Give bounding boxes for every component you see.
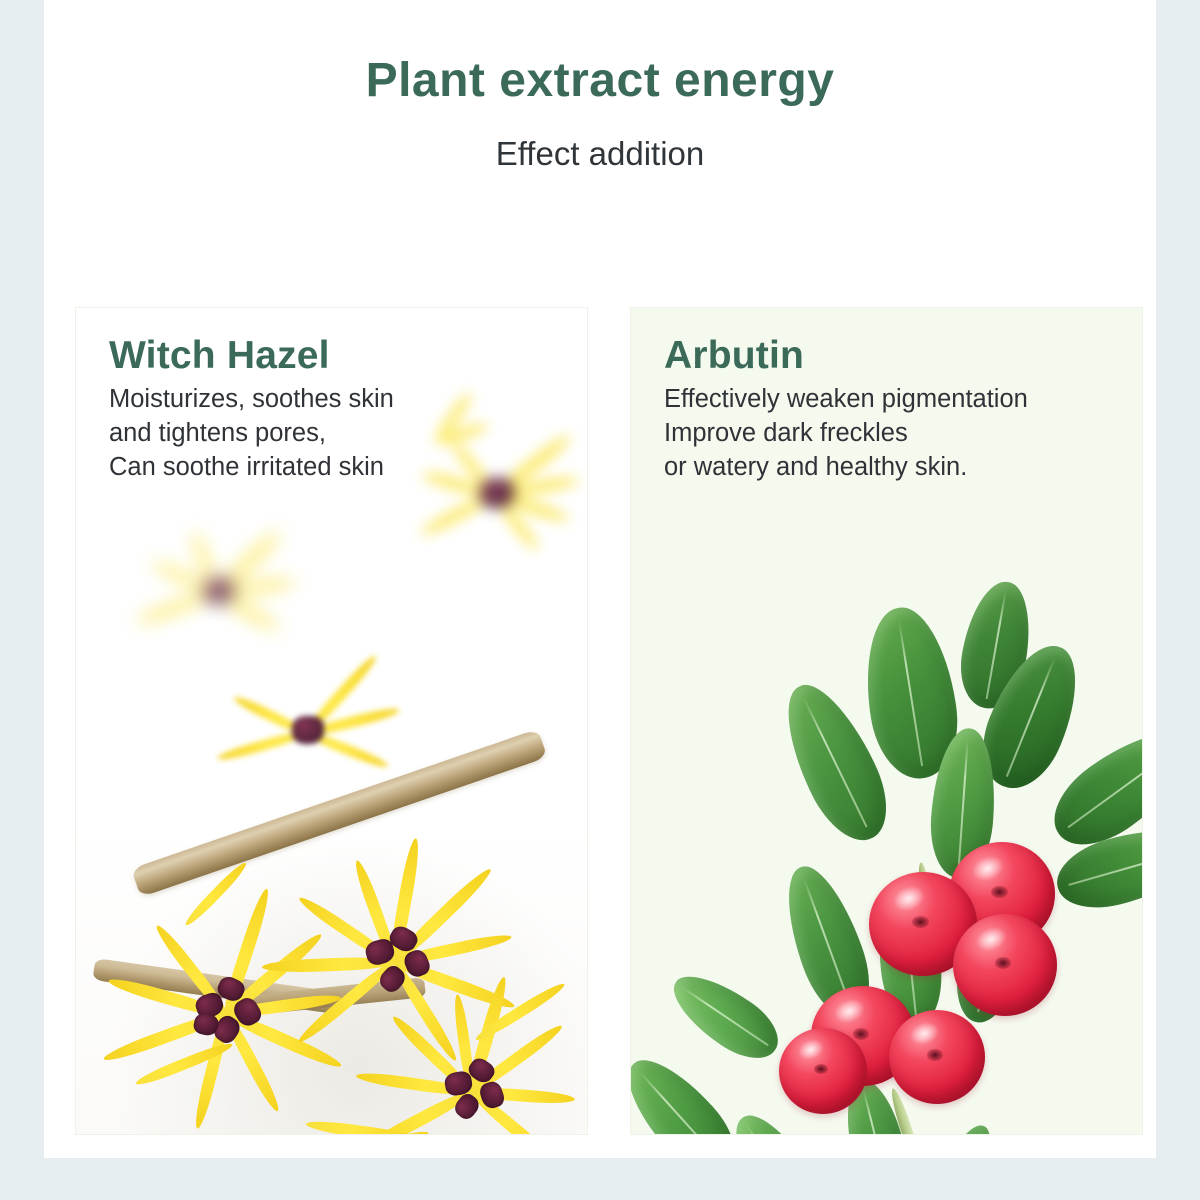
card-description-arbutin: Effectively weaken pigmentation Improve …	[664, 377, 1132, 485]
card-title-witch-hazel: Witch Hazel	[109, 336, 577, 377]
arbutin-berry-3	[953, 914, 1057, 1016]
ingredient-cards: Witch Hazel Moisturizes, soothes skin an…	[75, 307, 1150, 1133]
header: Plant extract energy Effect addition	[44, 55, 1156, 172]
arbutin-berry-5	[889, 1010, 985, 1104]
arbutin-berry-6	[779, 1028, 867, 1114]
page-frame: Plant extract energy Effect addition	[0, 0, 1200, 1200]
witch-hazel-blurred-cluster-left	[116, 488, 326, 678]
arbutin-leaf-12	[630, 1134, 697, 1135]
page-subtitle: Effect addition	[44, 108, 1156, 172]
content-canvas: Plant extract energy Effect addition	[44, 0, 1156, 1158]
card-description-witch-hazel: Moisturizes, soothes skin and tightens p…	[109, 377, 577, 485]
card-text-arbutin: Arbutin Effectively weaken pigmentation …	[664, 336, 1132, 485]
page-title: Plant extract energy	[44, 55, 1156, 108]
card-witch-hazel[interactable]: Witch Hazel Moisturizes, soothes skin an…	[75, 307, 588, 1135]
card-text-witch-hazel: Witch Hazel Moisturizes, soothes skin an…	[109, 336, 577, 485]
card-title-arbutin: Arbutin	[664, 336, 1132, 377]
card-arbutin[interactable]: Arbutin Effectively weaken pigmentation …	[630, 307, 1143, 1135]
